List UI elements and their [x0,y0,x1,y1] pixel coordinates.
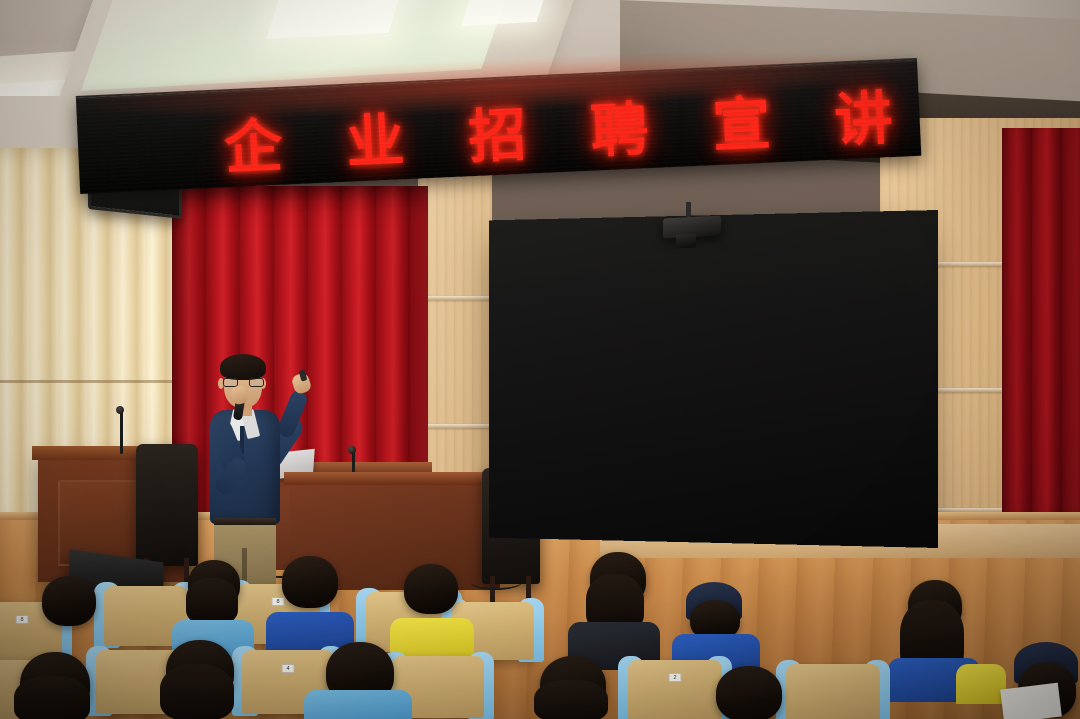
wood-seam [418,424,492,428]
audience-head [42,576,96,626]
audience-vest [956,664,1006,704]
audience-head [282,556,338,608]
seat-number: 8 [272,597,285,606]
ceiling-light-panel [461,0,544,26]
presenter-hair [220,354,266,380]
videowall-surround [489,210,938,548]
seat-number: 2 [669,673,682,682]
seat-number: 4 [282,664,295,673]
curtain-rod-line [0,380,196,383]
seat[interactable]: 2 [628,660,722,719]
audience-hair [14,676,90,719]
audience-head [716,666,782,719]
microphone-head-icon [116,406,124,414]
seat-number: 8 [16,615,29,624]
microphone-head-icon [348,446,356,454]
audience-hair [160,664,234,719]
led-banner-text: 企 业 招 聘 宣 讲 [222,70,916,185]
projector-lens-icon [676,233,696,248]
gooseneck-microphone-stand [120,412,123,454]
paper-sheet [1000,683,1062,719]
auditorium-photo: 企 业 招 聘 宣 讲 [0,0,1080,719]
audience-head [404,564,458,614]
audience: 8 8 [0,556,1080,719]
audience-hair [186,578,238,624]
presenter-right-forearm [276,389,310,440]
audience-hair [534,680,608,719]
audience-shoulders [304,690,412,719]
presenter-belt [214,518,276,525]
seat[interactable] [786,664,880,719]
wood-seam [418,296,492,300]
